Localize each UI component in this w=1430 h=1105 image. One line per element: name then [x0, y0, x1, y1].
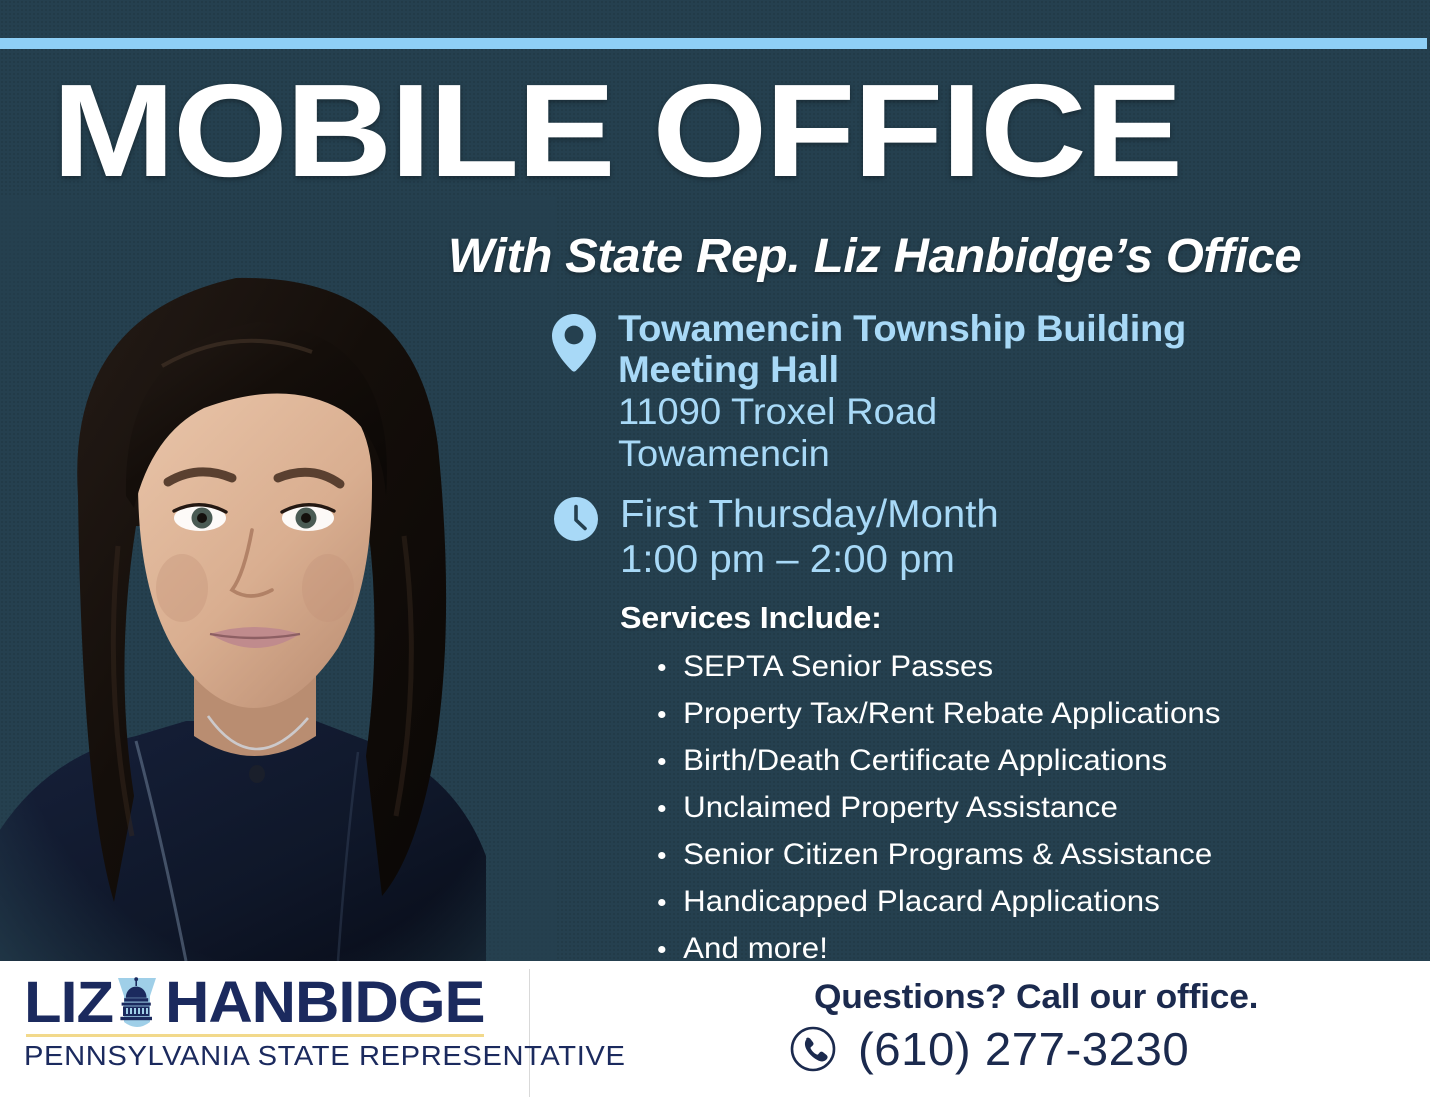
footer-bar: LIZ: [0, 961, 1430, 1105]
venue-name-line2: Meeting Hall: [618, 349, 1186, 390]
list-item: Property Tax/Rent Rebate Applications: [654, 699, 1409, 729]
flyer-poster: MOBILE OFFICE With State Rep. Liz Hanbid…: [0, 0, 1430, 1105]
schedule-frequency: First Thursday/Month: [620, 493, 999, 538]
phone-row: (610) 277-3230: [790, 1026, 1310, 1072]
venue-city: Towamencin: [618, 433, 1186, 475]
venue-name-line1: Towamencin Township Building: [618, 308, 1186, 349]
phone-number: (610) 277-3230: [858, 1026, 1189, 1072]
logo-tagline: PENNSYLVANIA STATE REPRESENTATIVE: [24, 1041, 534, 1070]
contact-section: Questions? Call our office. (610) 277-32…: [790, 979, 1310, 1072]
representative-portrait: [0, 196, 556, 961]
clock-icon: [554, 497, 598, 541]
schedule-block: First Thursday/Month 1:00 pm – 2:00 pm: [552, 493, 1412, 583]
representative-logo: LIZ: [24, 973, 514, 1070]
list-item: Handicapped Placard Applications: [654, 887, 1409, 917]
map-pin-icon: [552, 314, 596, 372]
hero-panel: MOBILE OFFICE With State Rep. Liz Hanbid…: [0, 0, 1430, 961]
pennsylvania-keystone-capitol-icon: [110, 974, 164, 1032]
page-title: MOBILE OFFICE: [52, 70, 1181, 191]
footer-divider: [529, 969, 530, 1097]
event-details: Towamencin Township Building Meeting Hal…: [552, 308, 1412, 583]
logo-first-name: LIZ: [24, 973, 113, 1033]
services-section: Services Include: SEPTA Senior Passes Pr…: [620, 600, 1380, 961]
services-list: SEPTA Senior Passes Property Tax/Rent Re…: [620, 652, 1380, 961]
contact-prompt: Questions? Call our office.: [814, 979, 1330, 1016]
schedule-time: 1:00 pm – 2:00 pm: [620, 538, 999, 583]
list-item: And more!: [654, 934, 1409, 961]
services-heading: Services Include:: [620, 600, 1410, 636]
list-item: Unclaimed Property Assistance: [654, 793, 1409, 823]
list-item: SEPTA Senior Passes: [654, 652, 1409, 682]
phone-icon: [790, 1026, 836, 1072]
logo-wordmark: LIZ: [24, 973, 514, 1033]
venue-street: 11090 Troxel Road: [618, 391, 1186, 433]
top-accent-bar: [0, 38, 1427, 49]
list-item: Birth/Death Certificate Applications: [654, 746, 1409, 776]
list-item: Senior Citizen Programs & Assistance: [654, 840, 1409, 870]
page-subtitle: With State Rep. Liz Hanbidge’s Office: [448, 232, 1301, 282]
logo-last-name: HANBIDGE: [165, 973, 484, 1033]
location-block: Towamencin Township Building Meeting Hal…: [552, 308, 1412, 475]
